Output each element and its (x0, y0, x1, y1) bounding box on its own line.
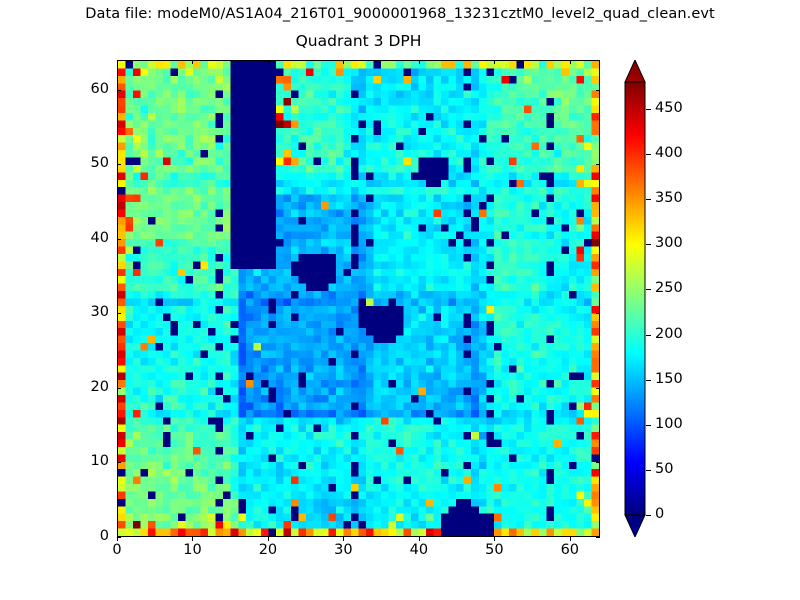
y-axis-tick-label: 30 (57, 304, 109, 320)
y-axis-tick-label: 60 (57, 81, 109, 97)
y-axis-tick-label: 20 (57, 379, 109, 395)
plot-title: Quadrant 3 DPH (117, 32, 600, 50)
y-axis-tick-label: 10 (57, 453, 109, 469)
colorbar-tick-label: 200 (655, 326, 683, 342)
data-file-caption: Data file: modeM0/AS1A04_216T01_90000019… (0, 6, 800, 22)
x-axis-tick (192, 537, 193, 541)
colorbar-gradient (624, 60, 646, 537)
heatmap-image[interactable] (118, 61, 599, 536)
colorbar-tick (646, 380, 651, 381)
x-axis-tick-label: 10 (162, 542, 222, 558)
colorbar-tick-label: 0 (655, 506, 664, 522)
colorbar-tick (646, 244, 651, 245)
y-axis-tick (117, 313, 121, 314)
y-axis-tick (596, 90, 600, 91)
y-axis-tick (596, 537, 600, 538)
colorbar-tick-label: 450 (655, 100, 683, 116)
colorbar-tick (646, 425, 651, 426)
colorbar-tick (646, 515, 651, 516)
colorbar-tick (646, 154, 651, 155)
x-axis-tick-label: 20 (238, 542, 298, 558)
y-axis-tick (117, 388, 121, 389)
colorbar-tick (646, 109, 651, 110)
y-axis-tick (596, 313, 600, 314)
colorbar-tick-label: 300 (655, 235, 683, 251)
colorbar-tick (646, 199, 651, 200)
y-axis-tick (596, 462, 600, 463)
x-axis-tick-label: 60 (540, 542, 600, 558)
x-axis-tick (117, 60, 118, 64)
colorbar-extend-top-arrow (625, 60, 645, 82)
colorbar-tick-label: 50 (655, 461, 673, 477)
x-axis-tick (419, 60, 420, 64)
y-axis-tick-label: 50 (57, 155, 109, 171)
x-axis-tick (192, 60, 193, 64)
colorbar-tick (646, 289, 651, 290)
x-axis-tick (268, 537, 269, 541)
colorbar-tick-label: 150 (655, 371, 683, 387)
colorbar-body (625, 82, 645, 515)
x-axis-tick (570, 60, 571, 64)
heatmap-axes[interactable] (117, 60, 600, 537)
y-axis-tick (596, 164, 600, 165)
colorbar-tick-label: 350 (655, 190, 683, 206)
colorbar-extend-bottom-arrow (625, 515, 645, 537)
x-axis-tick-label: 40 (389, 542, 449, 558)
colorbar-tick-label: 100 (655, 416, 683, 432)
y-axis-tick (117, 462, 121, 463)
x-axis-tick (419, 537, 420, 541)
y-axis-tick-label: 0 (57, 528, 109, 544)
x-axis-tick (494, 537, 495, 541)
y-axis-tick-label: 40 (57, 230, 109, 246)
y-axis-tick (117, 164, 121, 165)
colorbar-tick-label: 250 (655, 280, 683, 296)
y-axis-tick (117, 537, 121, 538)
x-axis-tick-label: 50 (464, 542, 524, 558)
x-axis-tick (570, 537, 571, 541)
figure-canvas: Data file: modeM0/AS1A04_216T01_90000019… (0, 0, 800, 600)
x-axis-tick-label: 0 (87, 542, 147, 558)
y-axis-tick (117, 90, 121, 91)
x-axis-tick (343, 60, 344, 64)
colorbar-tick (646, 470, 651, 471)
x-axis-tick-label: 30 (313, 542, 373, 558)
x-axis-tick (268, 60, 269, 64)
colorbar[interactable] (624, 60, 646, 537)
y-axis-tick (596, 388, 600, 389)
colorbar-tick-label: 400 (655, 145, 683, 161)
x-axis-tick (343, 537, 344, 541)
y-axis-tick (117, 239, 121, 240)
x-axis-tick (494, 60, 495, 64)
colorbar-tick (646, 335, 651, 336)
y-axis-tick (596, 239, 600, 240)
